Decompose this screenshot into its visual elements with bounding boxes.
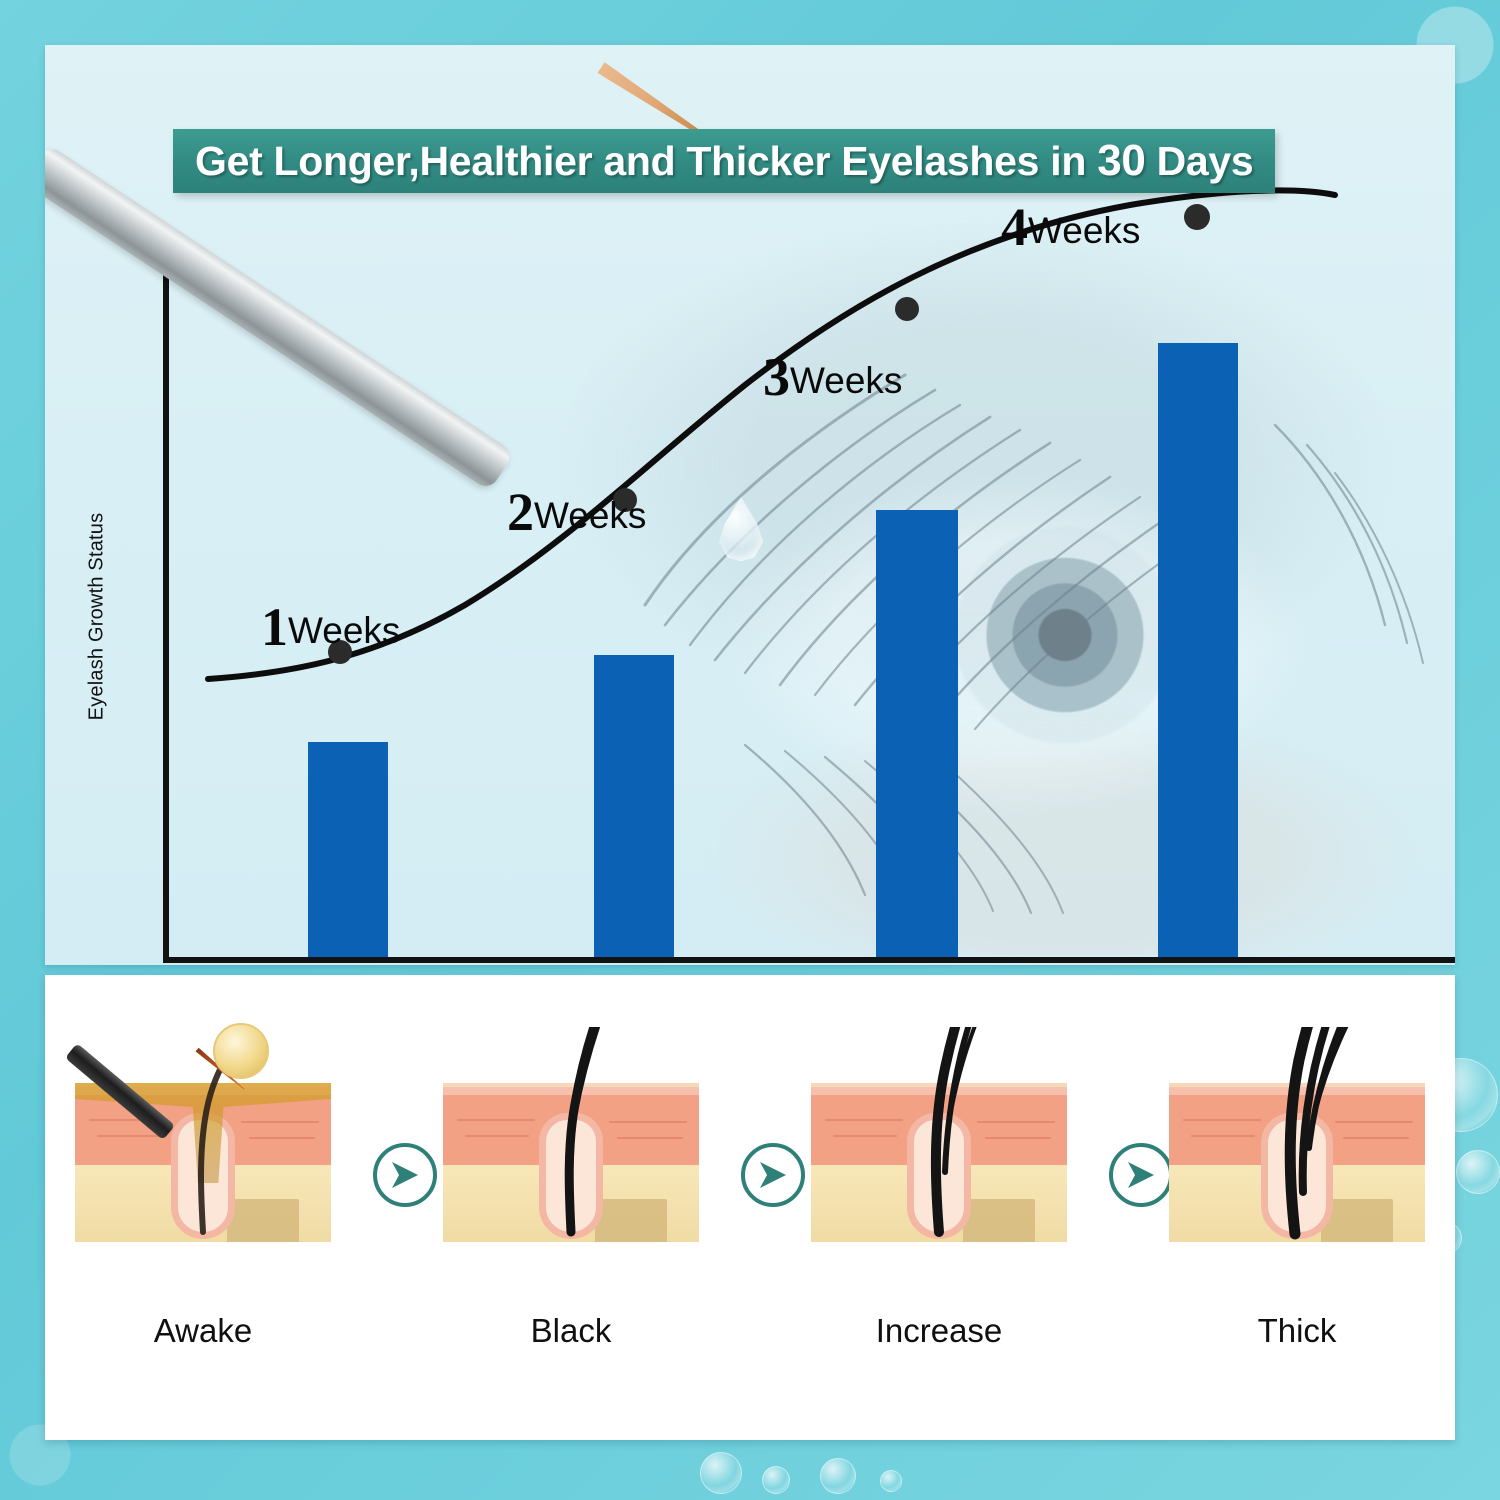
stage-label-increase: Increase [811, 1312, 1067, 1350]
stage-label-awake: Awake [75, 1312, 331, 1350]
serum-drop-icon [213, 1023, 269, 1079]
follicle-hair-group [1169, 1027, 1425, 1242]
arrow-icon [1109, 1143, 1173, 1207]
page-title: Get Longer,Healthier and Thicker Eyelash… [195, 136, 1253, 186]
bubble-decoration [762, 1466, 790, 1494]
annotation-week-2-number: 2 [507, 482, 534, 542]
annotation-week-4: 4Weeks [1001, 200, 1140, 254]
annotation-week-1-unit: Weeks [288, 610, 400, 651]
annotation-week-3-unit: Weeks [790, 360, 902, 401]
growth-stages-panel: Awake Black [45, 975, 1455, 1440]
annotation-week-1-number: 1 [261, 597, 288, 657]
title-prefix: Get Longer,Healthier and Thicker Eyelash… [195, 138, 1097, 184]
stage-label-thick: Thick [1169, 1312, 1425, 1350]
annotation-week-3-number: 3 [763, 347, 790, 407]
title-highlight: 30 [1097, 136, 1145, 185]
stage-label-black: Black [443, 1312, 699, 1350]
bubble-decoration [880, 1470, 902, 1492]
bubble-decoration [700, 1452, 742, 1494]
curve-point-week-3 [895, 297, 919, 321]
stage-increase: Increase [811, 1027, 1067, 1242]
chart-panel: Eyelash Growth Status Using Time 1Weeks … [45, 45, 1455, 965]
skin-cross-section [443, 1027, 699, 1242]
infographic-root: Eyelash Growth Status Using Time 1Weeks … [0, 0, 1500, 1500]
skin-cross-section [1169, 1027, 1425, 1242]
annotation-week-4-number: 4 [1001, 197, 1028, 257]
skin-cross-section [811, 1027, 1067, 1242]
title-suffix: Days [1146, 138, 1254, 184]
annotation-week-1: 1Weeks [261, 600, 400, 654]
stage-black: Black [443, 1027, 699, 1242]
annotation-week-3: 3Weeks [763, 350, 902, 404]
follicle-hair-group [75, 1027, 331, 1242]
bubble-decoration [820, 1458, 856, 1494]
bubble-decoration [1456, 1150, 1500, 1194]
skin-cross-section [75, 1027, 331, 1242]
annotation-week-4-unit: Weeks [1028, 210, 1140, 251]
annotation-week-2-unit: Weeks [534, 495, 646, 536]
stage-thick: Thick [1169, 1027, 1425, 1242]
follicle-hair-group [443, 1027, 699, 1242]
arrow-icon [741, 1143, 805, 1207]
arrow-icon [373, 1143, 437, 1207]
title-banner: Get Longer,Healthier and Thicker Eyelash… [173, 129, 1275, 193]
curve-point-week-4 [1184, 204, 1210, 230]
stage-awake: Awake [75, 1027, 331, 1242]
follicle-hair-group [811, 1027, 1067, 1242]
annotation-week-2: 2Weeks [507, 485, 646, 539]
